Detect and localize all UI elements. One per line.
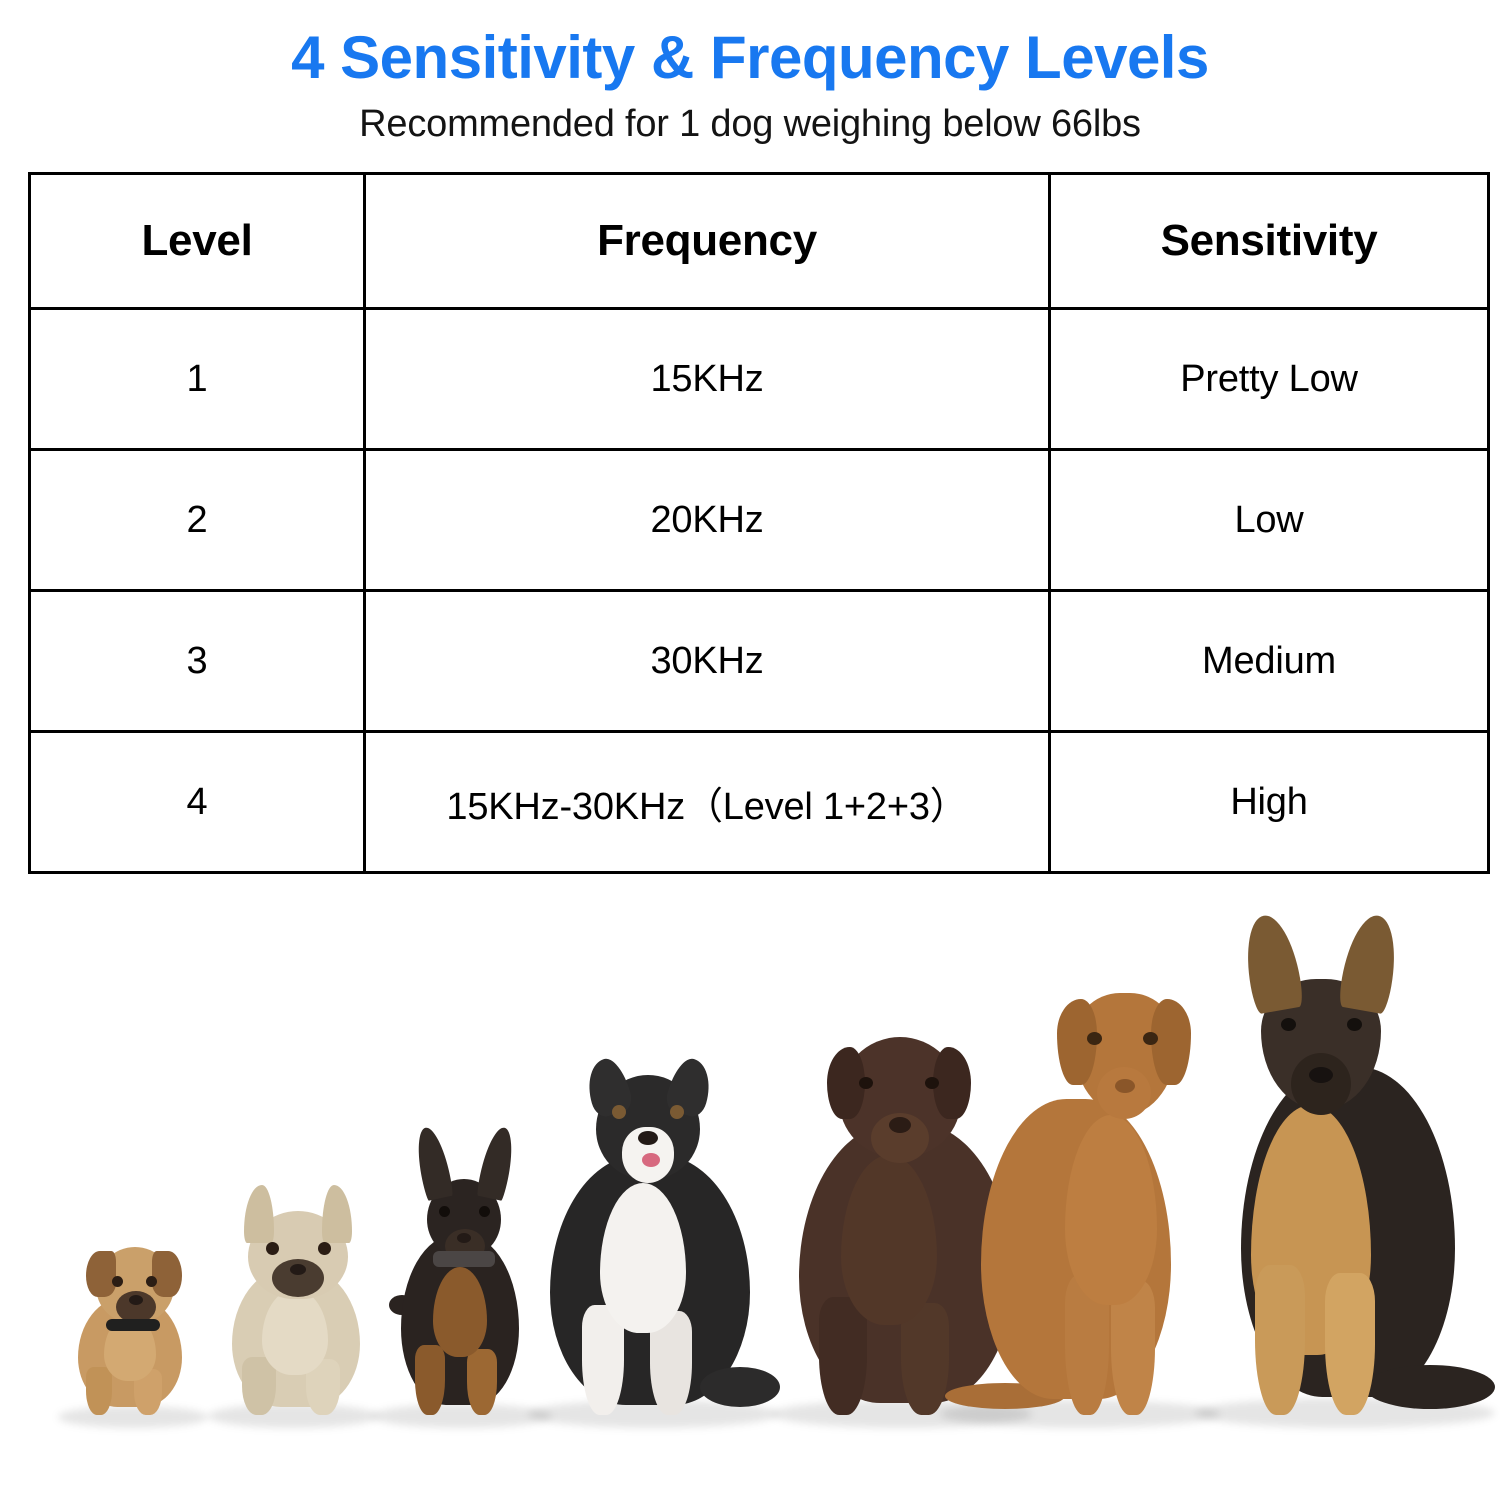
dog-tail bbox=[700, 1367, 780, 1407]
dog-size-lineup-photo bbox=[0, 860, 1500, 1500]
dog-eye bbox=[318, 1242, 331, 1255]
dog-ear bbox=[152, 1251, 182, 1297]
table-row: 2 20KHz Low bbox=[30, 450, 1489, 591]
column-header-frequency: Frequency bbox=[365, 174, 1050, 309]
dog-ear bbox=[476, 1125, 518, 1201]
table-row: 1 15KHz Pretty Low bbox=[30, 309, 1489, 450]
cell-sensitivity: High bbox=[1050, 732, 1489, 873]
table-row: 3 30KHz Medium bbox=[30, 591, 1489, 732]
dog-leg bbox=[415, 1345, 445, 1415]
dog-eye bbox=[146, 1276, 157, 1287]
dog-eye bbox=[439, 1206, 450, 1217]
dog-leg bbox=[86, 1367, 112, 1415]
dog-nose bbox=[457, 1233, 471, 1243]
table-row: 4 15KHz-30KHz（Level 1+2+3） High bbox=[30, 732, 1489, 873]
cell-sensitivity: Medium bbox=[1050, 591, 1489, 732]
dog-vizsla bbox=[945, 895, 1225, 1415]
dog-eye bbox=[1281, 1018, 1296, 1031]
dog-ear bbox=[1239, 911, 1305, 1014]
dog-collar bbox=[433, 1251, 495, 1267]
dog-eye bbox=[1143, 1032, 1158, 1045]
dog-eye bbox=[1087, 1032, 1102, 1045]
table-header: Level Frequency Sensitivity bbox=[30, 174, 1489, 309]
column-header-level: Level bbox=[30, 174, 365, 309]
dog-nose bbox=[290, 1264, 306, 1275]
dog-french-bulldog bbox=[210, 1155, 390, 1415]
level-table: Level Frequency Sensitivity 1 15KHz Pret… bbox=[28, 172, 1490, 874]
dog-eye bbox=[479, 1206, 490, 1217]
dog-nose bbox=[129, 1295, 143, 1305]
dog-nose bbox=[638, 1131, 658, 1145]
cell-level: 2 bbox=[30, 450, 365, 591]
dog-ear bbox=[1151, 999, 1191, 1085]
dog-ear bbox=[1337, 911, 1403, 1014]
level-table-container: Level Frequency Sensitivity 1 15KHz Pret… bbox=[28, 172, 1472, 874]
dog-eye bbox=[925, 1077, 939, 1089]
cell-sensitivity: Pretty Low bbox=[1050, 309, 1489, 450]
dog-tail bbox=[1365, 1365, 1495, 1409]
dog-nose bbox=[1115, 1079, 1135, 1093]
dog-eye bbox=[859, 1077, 873, 1089]
dog-eye bbox=[112, 1276, 123, 1287]
dog-ear bbox=[412, 1125, 454, 1201]
dog-muzzle bbox=[1097, 1067, 1151, 1119]
dog-eye bbox=[266, 1242, 279, 1255]
dog-leg bbox=[467, 1349, 497, 1415]
dog-ear bbox=[581, 1055, 635, 1120]
cell-frequency: 20KHz bbox=[365, 450, 1050, 591]
cell-frequency: 15KHz-30KHz（Level 1+2+3） bbox=[365, 732, 1050, 873]
dog-collar bbox=[106, 1319, 160, 1331]
dog-ear bbox=[322, 1185, 352, 1243]
dog-leg bbox=[1325, 1273, 1375, 1415]
product-infographic: 4 Sensitivity & Frequency Levels Recomme… bbox=[0, 0, 1500, 1500]
column-header-sensitivity: Sensitivity bbox=[1050, 174, 1489, 309]
dog-tongue bbox=[642, 1153, 660, 1167]
table-header-row: Level Frequency Sensitivity bbox=[30, 174, 1489, 309]
cell-level: 3 bbox=[30, 591, 365, 732]
dog-ear bbox=[86, 1251, 116, 1297]
dog-nose bbox=[889, 1117, 911, 1133]
dog-muzzle bbox=[1291, 1053, 1351, 1115]
dog-leg bbox=[1255, 1265, 1305, 1415]
cell-level: 1 bbox=[30, 309, 365, 450]
table-body: 1 15KHz Pretty Low 2 20KHz Low 3 30KHz M… bbox=[30, 309, 1489, 873]
dog-nose bbox=[1309, 1067, 1333, 1083]
dog-eye bbox=[670, 1105, 684, 1119]
page-subtitle: Recommended for 1 dog weighing below 66l… bbox=[0, 103, 1500, 146]
dog-leg bbox=[819, 1297, 867, 1415]
cell-sensitivity: Low bbox=[1050, 450, 1489, 591]
cell-level: 4 bbox=[30, 732, 365, 873]
dog-border-collie bbox=[530, 985, 790, 1415]
dog-eye bbox=[1347, 1018, 1362, 1031]
cell-frequency: 15KHz bbox=[365, 309, 1050, 450]
cell-frequency: 30KHz bbox=[365, 591, 1050, 732]
page-title: 4 Sensitivity & Frequency Levels bbox=[0, 0, 1500, 89]
dog-puggle-puppy bbox=[60, 1215, 210, 1415]
dog-ear bbox=[244, 1185, 274, 1243]
dog-eye bbox=[612, 1105, 626, 1119]
dog-german-shepherd bbox=[1195, 860, 1495, 1415]
